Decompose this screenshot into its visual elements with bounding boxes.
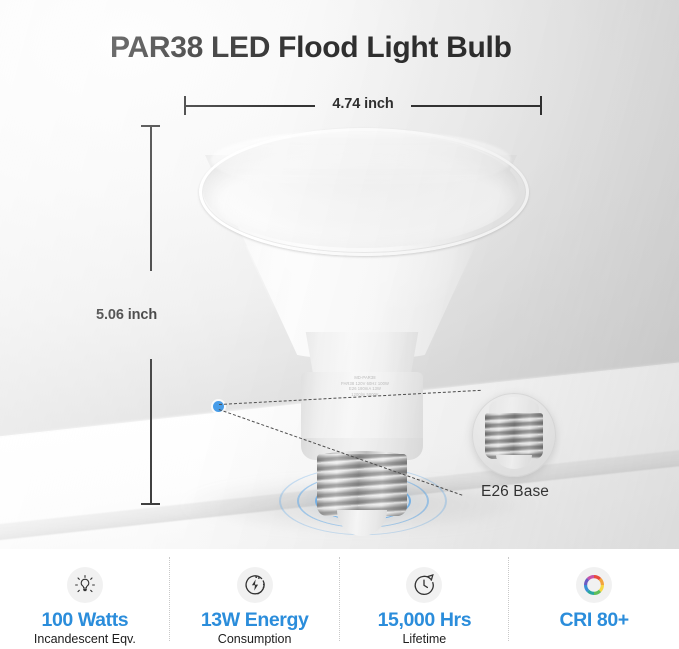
height-tick-bottom (141, 503, 160, 505)
product-infographic: MD-PAR38 PAR38 120V 60Hz 100W E26 180mA … (0, 0, 679, 649)
reflector-rim-highlight (211, 130, 511, 190)
clock-icon (406, 567, 442, 603)
feature-subtitle: Lifetime (402, 632, 446, 647)
e26-base-label: E26 Base (481, 483, 549, 501)
width-line-left (185, 105, 315, 107)
screw-base (317, 454, 407, 516)
closeup-contact-tip (496, 455, 532, 469)
color-wheel-icon (576, 567, 612, 603)
height-line-bottom (150, 359, 152, 504)
feature-bar: 100 Watts Incandescent Eqv. 13W Energy C… (0, 549, 679, 649)
height-dimension-label: 5.06 inch (96, 307, 157, 323)
feature-item-cri: CRI 80+ (509, 549, 679, 632)
page-title: PAR38 LED Flood Light Bulb (110, 31, 512, 65)
feature-subtitle: Incandescent Eqv. (34, 632, 136, 647)
callout-anchor-dot (213, 401, 224, 412)
height-line-top (150, 126, 152, 271)
width-dimension-label: 4.74 inch (332, 96, 393, 112)
closeup-screw-threads (485, 413, 543, 459)
width-line-right (411, 105, 541, 107)
light-bulb-icon (67, 567, 103, 603)
width-dimension: 4.74 inch (184, 96, 542, 118)
energy-bolt-icon (237, 567, 273, 603)
height-dimension: 5.06 inch (124, 125, 214, 505)
closeup-screw-base (485, 413, 543, 459)
bulb-print-label: MD-PAR38 PAR38 120V 60Hz 100W E26 180mA … (319, 375, 411, 397)
screw-threads (317, 454, 407, 516)
feature-subtitle: Consumption (218, 632, 292, 647)
feature-item-lifetime: 15,000 Hrs Lifetime (340, 549, 510, 647)
feature-title: 15,000 Hrs (378, 609, 472, 631)
feature-item-energy: 13W Energy Consumption (170, 549, 340, 647)
feature-title: 13W Energy (201, 609, 309, 631)
feature-title: 100 Watts (42, 609, 129, 631)
e26-base-closeup (472, 393, 556, 477)
base-contact-tip (337, 510, 387, 536)
width-tick-right (540, 96, 542, 115)
feature-item-watts: 100 Watts Incandescent Eqv. (0, 549, 170, 647)
product-photo-scene: MD-PAR38 PAR38 120V 60Hz 100W E26 180mA … (0, 0, 679, 549)
feature-title: CRI 80+ (559, 609, 628, 631)
bulb-reflector (181, 126, 541, 358)
